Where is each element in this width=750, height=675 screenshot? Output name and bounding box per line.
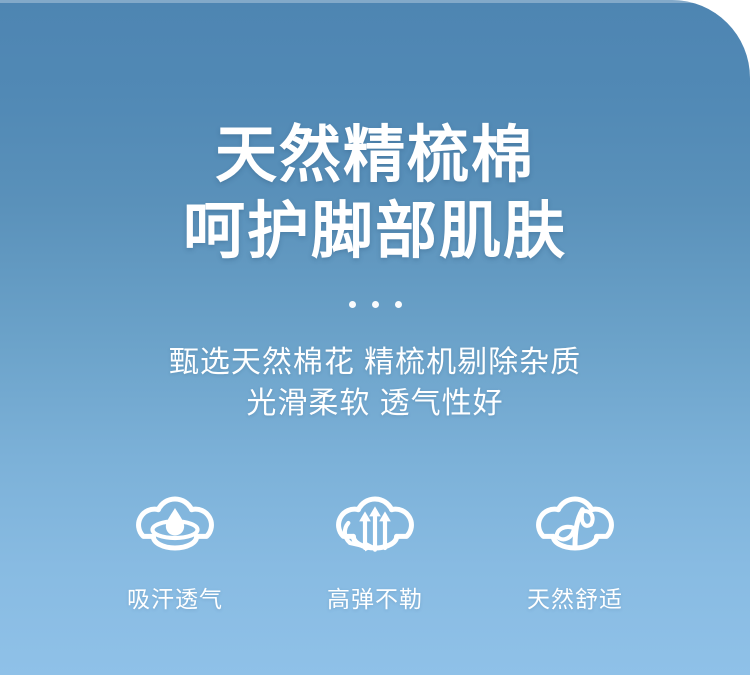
divider-dot xyxy=(349,301,356,308)
headline-line-2: 呵护脚部肌肤 xyxy=(0,194,750,270)
feature-label: 吸汗透气 xyxy=(75,585,275,613)
leaf-right xyxy=(582,511,593,526)
feature-label: 高弹不勒 xyxy=(275,585,475,613)
cotton-boll-airflow-arrows-icon xyxy=(325,476,425,560)
arrow-head xyxy=(369,506,381,516)
headline: 天然精梳棉 呵护脚部肌肤 xyxy=(0,118,750,270)
feature-list: 吸汗透气 xyxy=(75,476,675,613)
divider-dot xyxy=(372,301,379,308)
cotton-boll-droplet-icon xyxy=(125,476,225,560)
divider-dot xyxy=(395,301,402,308)
headline-line-1: 天然精梳棉 xyxy=(0,118,750,194)
subtitle-line-2: 光滑柔软 透气性好 xyxy=(0,383,750,424)
cotton-boll-sprout-icon xyxy=(525,476,625,560)
dot-divider xyxy=(0,301,750,308)
feature-item-moisture-wicking: 吸汗透气 xyxy=(75,476,275,613)
arrow-head xyxy=(379,511,391,521)
leaf-left xyxy=(557,527,575,539)
top-edge-highlight xyxy=(0,0,750,3)
product-feature-banner: 天然精梳棉 呵护脚部肌肤 甄选天然棉花 精梳机剔除杂质 光滑柔软 透气性好 xyxy=(0,0,750,675)
arrow-head xyxy=(359,511,371,521)
feature-item-natural-comfort: 天然舒适 xyxy=(475,476,675,613)
feature-item-high-elasticity: 高弹不勒 xyxy=(275,476,475,613)
feature-label: 天然舒适 xyxy=(475,585,675,613)
subtitle-line-1: 甄选天然棉花 精梳机剔除杂质 xyxy=(0,342,750,383)
subtitle: 甄选天然棉花 精梳机剔除杂质 光滑柔软 透气性好 xyxy=(0,342,750,424)
